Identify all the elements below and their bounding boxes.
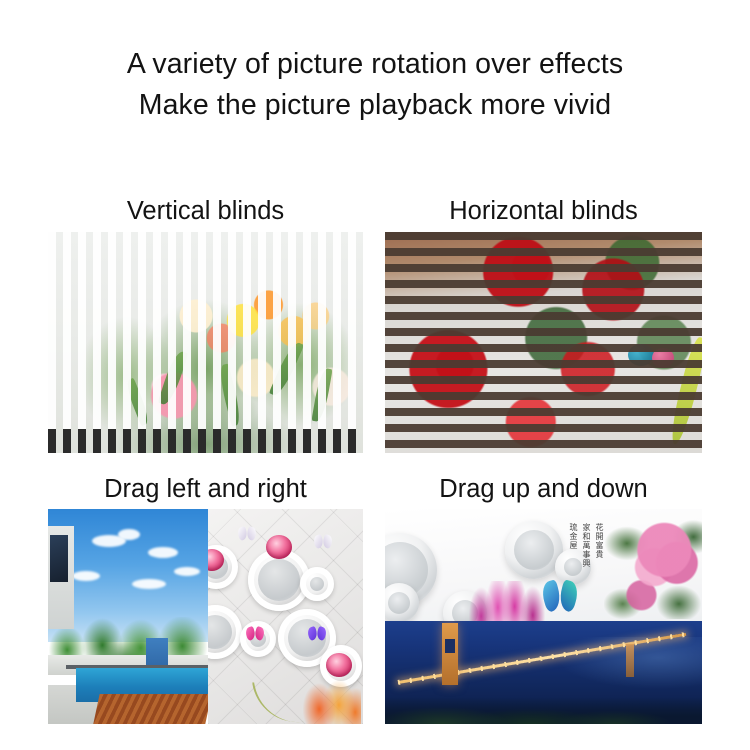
night-bridge-photo [385, 621, 702, 724]
preview-drag-left-right [48, 509, 363, 724]
section-label-drag-up-down: Drag up and down [385, 474, 702, 504]
cloud-icon [132, 579, 166, 589]
calligraphy-column-1: 花開富貴 [595, 523, 604, 601]
horizontal-blind-slats [385, 232, 702, 453]
cloud-icon [72, 571, 100, 581]
butterfly-icon [308, 627, 326, 640]
shoreline [385, 697, 702, 724]
preview-drag-up-down: 花開富貴 家和萬事興 琉金屋 [385, 509, 702, 724]
calligraphy-text: 花開富貴 家和萬事興 琉金屋 [540, 523, 604, 601]
butterfly-icon [314, 535, 332, 548]
vertical-blind-slats [48, 232, 363, 453]
section-label-vertical-blinds: Vertical blinds [48, 196, 363, 226]
butterfly-icon [238, 527, 256, 540]
rings-wallpaper [208, 509, 363, 724]
section-label-drag-left-right: Drag left and right [48, 474, 363, 504]
villa-window [50, 535, 68, 582]
section-label-horizontal-blinds: Horizontal blinds [385, 196, 702, 226]
cloud-icon [118, 529, 140, 540]
lotus-icon [469, 581, 545, 621]
butterfly-icon [246, 627, 264, 640]
feature-graphic: A variety of picture rotation over effec… [0, 0, 750, 750]
headline-line-2: Make the picture playback more vivid [0, 85, 750, 126]
headline-line-1: A variety of picture rotation over effec… [0, 44, 750, 85]
3d-wallpaper-photo: 花開富貴 家和萬事興 琉金屋 [385, 509, 702, 621]
cloud-icon [174, 567, 200, 576]
bridge-tower-far [626, 644, 634, 677]
ring-icon [300, 567, 334, 601]
wooden-deck [92, 694, 208, 724]
calligraphy-column-3: 琉金屋 [569, 523, 578, 601]
sphere-icon [385, 583, 419, 621]
headline: A variety of picture rotation over effec… [0, 44, 750, 126]
peony-icon [604, 511, 702, 619]
vertical-blind-shadow-band [48, 429, 363, 453]
rose-icon [266, 535, 292, 559]
calligraphy-column-2: 家和萬事興 [582, 523, 591, 601]
villa-pool-photo [48, 509, 208, 724]
bridge-tower-near [442, 623, 458, 685]
rose-icon [326, 653, 352, 677]
preview-vertical-blinds [48, 232, 363, 453]
tulip-icon [303, 678, 361, 724]
preview-horizontal-blinds [385, 232, 702, 453]
cloud-icon [148, 547, 178, 558]
